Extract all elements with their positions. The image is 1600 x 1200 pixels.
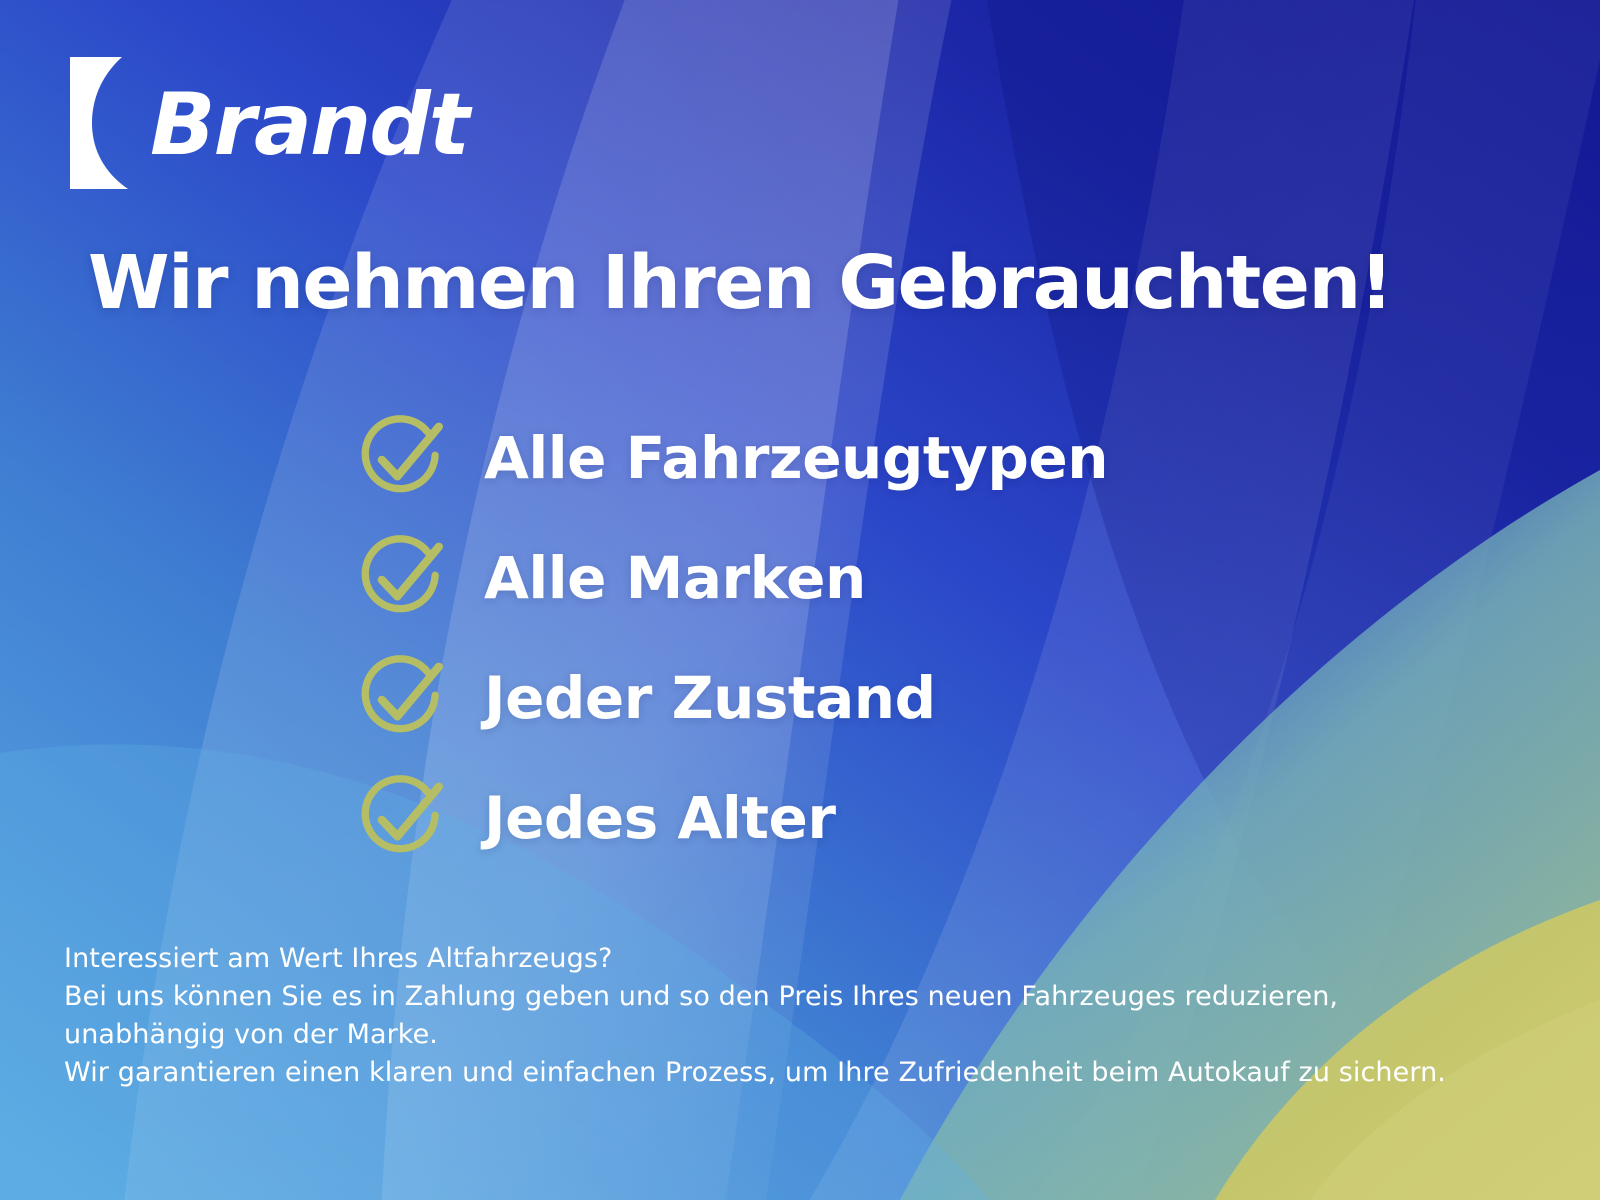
check-circle-icon bbox=[356, 532, 448, 624]
body-line: Wir garantieren einen klaren und einfach… bbox=[64, 1054, 1544, 1092]
body-line: unabhängig von der Marke. bbox=[64, 1016, 1544, 1054]
poster-content: Brandt Wir nehmen Ihren Gebrauchten! All… bbox=[0, 0, 1600, 1200]
promotional-poster: Brandt Wir nehmen Ihren Gebrauchten! All… bbox=[0, 0, 1600, 1200]
list-item: Alle Fahrzeugtypen bbox=[356, 398, 1456, 518]
list-item: Jedes Alter bbox=[356, 758, 1456, 878]
list-item-label: Alle Fahrzeugtypen bbox=[484, 429, 1108, 487]
check-circle-icon bbox=[356, 772, 448, 864]
check-circle-icon bbox=[356, 412, 448, 504]
list-item: Alle Marken bbox=[356, 518, 1456, 638]
brand-name: Brandt bbox=[150, 82, 468, 168]
page-title: Wir nehmen Ihren Gebrauchten! bbox=[88, 245, 1548, 323]
body-line: Interessiert am Wert Ihres Altfahrzeugs? bbox=[64, 940, 1544, 978]
list-item-label: Alle Marken bbox=[484, 549, 866, 607]
brandt-bracket-mark-icon bbox=[70, 57, 146, 189]
brand-logo: Brandt bbox=[70, 55, 468, 190]
check-circle-icon bbox=[356, 652, 448, 744]
list-item: Jeder Zustand bbox=[356, 638, 1456, 758]
body-paragraph: Interessiert am Wert Ihres Altfahrzeugs?… bbox=[64, 940, 1544, 1092]
list-item-label: Jeder Zustand bbox=[484, 669, 936, 727]
feature-checklist: Alle Fahrzeugtypen Alle Marken Jeder Zus… bbox=[356, 398, 1456, 878]
list-item-label: Jedes Alter bbox=[484, 789, 835, 847]
body-line: Bei uns können Sie es in Zahlung geben u… bbox=[64, 978, 1544, 1016]
